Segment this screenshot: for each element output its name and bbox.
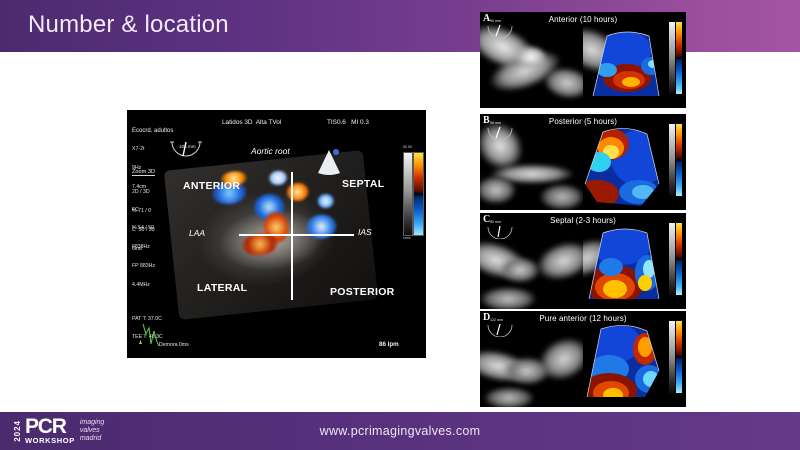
colorbar-bottom-label: cm/s (403, 236, 411, 240)
fc-wall-filter: FP 883Hz (132, 263, 155, 269)
panel-c-scale-icon (485, 223, 515, 239)
tissue-structure (484, 387, 534, 407)
machine-name: Ecocrd. adultos (132, 128, 173, 134)
heart-rate-readout: 86 lpm (379, 342, 399, 348)
tissue-structure (516, 46, 546, 68)
panel-b-title: Posterior (5 hours) (480, 117, 686, 126)
probe-orientation-icon (316, 146, 342, 176)
crosshair-vertical (291, 172, 293, 300)
doppler-sector (583, 118, 667, 210)
doppler-sector (585, 221, 665, 307)
fc-frequency: 4.4MHz (132, 282, 155, 288)
tissue-structure (480, 176, 516, 204)
echo-panel-c: 80 mm C Septal (2-3 hours) (480, 213, 686, 309)
echo-panel-a: 90 mm A Anterior (10 hours) (480, 12, 686, 108)
panel-b-color-doppler-view (583, 114, 668, 210)
label-posterior: POSTERIOR (330, 286, 395, 298)
label-lateral: LATERAL (197, 282, 247, 294)
tissue-structure (532, 235, 583, 287)
zoom3d-heading: Zoom 3D (132, 169, 155, 177)
footer-website-url: www.pcrimagingvalves.com (0, 424, 800, 438)
ecg-trace (137, 322, 183, 348)
panel-d-color-doppler-view (583, 311, 668, 407)
color-flow-parameters-block: FC % 54 / 50 6838Hz FP 883Hz 4.4MHz (132, 194, 155, 301)
label-aortic-root: Aortic root (251, 146, 290, 156)
panel-b-scale-icon (485, 124, 515, 140)
doppler-colorbar (413, 152, 424, 236)
label-anterior: ANTERIOR (183, 180, 240, 192)
fc-gain: % 54 / 50 (132, 225, 155, 231)
doppler-sector (583, 317, 667, 407)
tissue-structure (500, 257, 540, 283)
sector-angle-icon (169, 138, 203, 160)
panel-c-color-doppler-view (583, 213, 668, 309)
fc-prf: 6838Hz (132, 244, 155, 250)
label-laa: LAA (189, 228, 205, 238)
label-ias: IAS (358, 227, 372, 237)
panel-d-colorbar (669, 321, 682, 393)
panel-d-title: Pure anterior (12 hours) (480, 314, 686, 323)
panel-a-colorbar (669, 22, 682, 94)
doppler-sector (587, 22, 665, 102)
label-septal: SEPTAL (342, 178, 384, 190)
echo-panel-b: 56 mm B Posterior (5 hours) (480, 114, 686, 210)
colorbar-top-label: 50 50 (403, 145, 412, 149)
thermal-mechanical-index: TIS0.6 MI 0.3 (327, 120, 369, 126)
crosshair-horizontal (239, 234, 354, 236)
echo-panel-d: 122 mm D Pure anterior (12 hours) (480, 311, 686, 407)
panel-b-colorbar (669, 124, 682, 196)
tissue-structure (540, 184, 583, 210)
panel-d-scale-icon (485, 321, 515, 337)
main-3d-echo-image: Ecocrd. adultos X7-2t 9Hz 7.4cm Zoom 3D … (127, 110, 426, 358)
panel-a-color-doppler-view (583, 12, 668, 108)
fc-heading: FC (132, 207, 155, 213)
patient-temperature: PAT T: 37.0C (132, 316, 163, 322)
acquisition-mode-label: Latidos 3D Alta TVol (222, 120, 281, 126)
panel-c-title: Septal (2-3 hours) (480, 216, 686, 225)
tissue-structure (480, 287, 536, 309)
page-title: Number & location (28, 11, 229, 39)
probe-model: X7-2t (132, 146, 173, 152)
panel-c-colorbar (669, 223, 682, 295)
panel-a-scale-icon (485, 22, 515, 38)
grayscale-colorbar (403, 152, 413, 236)
panel-a-title: Anterior (10 hours) (480, 15, 686, 24)
